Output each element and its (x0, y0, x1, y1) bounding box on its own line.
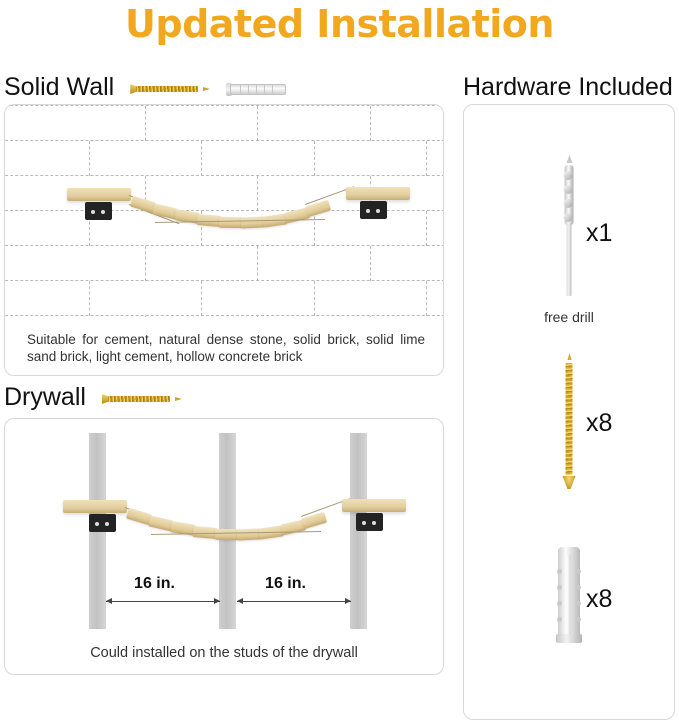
mount-shelf-right (342, 499, 406, 512)
mount-shelf-left (63, 500, 127, 513)
screw-icon (102, 394, 182, 404)
hardware-count-drill: x1 (586, 219, 612, 248)
hardware-count-screw: x8 (586, 409, 612, 438)
solid-wall-heading: Solid Wall (4, 73, 114, 102)
solid-wall-header-icons (130, 79, 288, 96)
wall-anchor-icon (226, 83, 288, 96)
mounting-bracket-left (85, 202, 112, 220)
drywall-diagram-panel: 16 in. 16 in. Could installed on the stu… (4, 418, 444, 675)
drywall-header-icons (102, 390, 182, 404)
hardware-item-drill: x1 free drill (464, 161, 674, 331)
hardware-heading: Hardware Included (463, 73, 673, 102)
dimension-label-right: 16 in. (220, 575, 351, 593)
dimension-arrow-right (237, 601, 351, 602)
screw-icon (130, 84, 210, 94)
mount-shelf-left (67, 188, 131, 201)
drywall-header: Drywall (4, 380, 444, 414)
mounting-bracket-right (360, 201, 387, 219)
mounting-bracket-left (89, 514, 116, 532)
hardware-item-screw: x8 (464, 357, 674, 497)
drywall-caption: Could installed on the studs of the dryw… (5, 645, 443, 662)
mount-shelf-right (346, 187, 410, 200)
solid-wall-diagram-panel: Suitable for cement, natural dense stone… (4, 104, 444, 376)
right-column: Hardware Included x1 free drill (463, 70, 675, 720)
dimension-label-left: 16 in. (89, 575, 220, 593)
solid-wall-header: Solid Wall (4, 70, 444, 104)
solid-wall-caption: Suitable for cement, natural dense stone… (27, 331, 425, 365)
cat-bridge-illustration (5, 419, 444, 631)
hardware-label-drill: free drill (464, 309, 674, 325)
page-title: Updated Installation (0, 2, 679, 46)
wall-anchor-icon (556, 547, 582, 643)
drywall-heading: Drywall (4, 383, 86, 412)
hardware-item-anchor: x8 (464, 547, 674, 657)
cat-bridge-illustration (5, 105, 444, 317)
dimension-arrow-left (106, 601, 220, 602)
mounting-bracket-right (356, 513, 383, 531)
drill-bit-icon (564, 161, 575, 296)
hardware-count-anchor: x8 (586, 585, 612, 614)
hardware-header: Hardware Included (463, 70, 675, 104)
hardware-included-panel: x1 free drill x8 (463, 104, 675, 720)
left-column: Solid Wall (4, 70, 444, 675)
screw-icon (563, 357, 576, 489)
